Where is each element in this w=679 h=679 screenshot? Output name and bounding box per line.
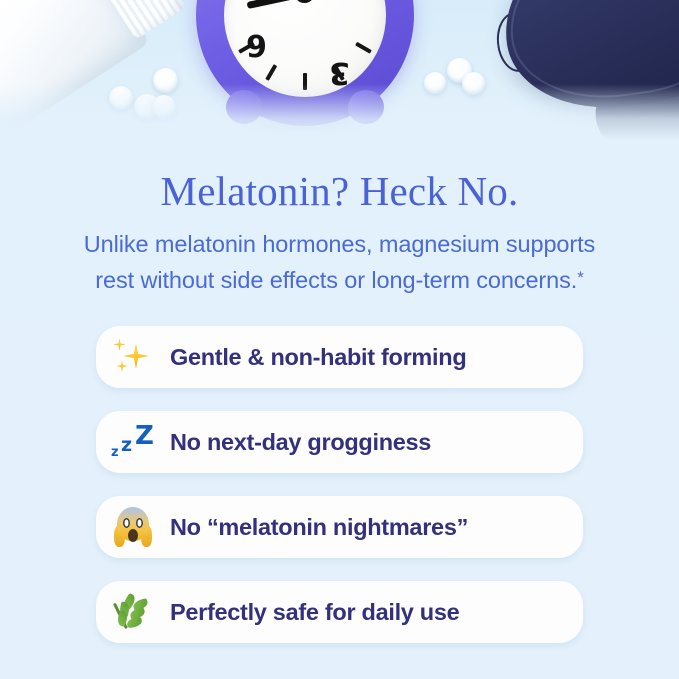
sleeping-zzz-icon: z z Z xyxy=(96,422,170,462)
sparkle-small-top xyxy=(113,338,126,351)
sparkle-large xyxy=(123,343,149,369)
subheading: Unlike melatonin hormones, magnesium sup… xyxy=(28,228,651,297)
scream-mouth xyxy=(128,529,138,542)
feature-card-label: No next-day grogginess xyxy=(170,429,431,456)
herb-leaf-icon xyxy=(96,592,170,632)
feature-card-label: Gentle & non-habit forming xyxy=(170,344,466,371)
promo-page: 6 3 Melatonin? Heck No. Unlike melatonin… xyxy=(0,0,679,679)
sparkles-icon xyxy=(96,336,170,378)
subheading-line-2: rest without side effects or long-term c… xyxy=(95,267,577,293)
hero-photo-banner: 6 3 xyxy=(0,0,679,140)
feature-card-list: Gentle & non-habit forming z z Z No next… xyxy=(96,326,583,643)
subheading-line-1: Unlike melatonin hormones, magnesium sup… xyxy=(84,231,595,257)
screaming-face-icon xyxy=(96,507,170,547)
scream-eye-right xyxy=(136,518,143,528)
feature-card-daily-use[interactable]: Perfectly safe for daily use xyxy=(96,581,583,643)
clock-numeral-6: 6 xyxy=(246,29,267,59)
clock-minute-hand xyxy=(247,0,305,9)
clock-numeral-3: 3 xyxy=(329,57,350,87)
zzz-medium: z xyxy=(121,436,132,455)
bottle-highlight xyxy=(0,0,71,38)
feature-card-label: Perfectly safe for daily use xyxy=(170,599,459,626)
hero-fade-overlay xyxy=(0,84,679,140)
herb-leaf xyxy=(126,617,142,628)
sparkle-small-bottom xyxy=(116,360,128,372)
clock-center-hub xyxy=(294,0,315,3)
footnote-asterisk: * xyxy=(577,268,584,287)
zzz-large: Z xyxy=(135,423,154,449)
feature-card-grogginess[interactable]: z z Z No next-day grogginess xyxy=(96,411,583,473)
scream-eye-left xyxy=(123,518,130,528)
clock-tick xyxy=(265,64,277,81)
feature-card-nightmares[interactable]: No “melatonin nightmares” xyxy=(96,496,583,558)
page-title: Melatonin? Heck No. xyxy=(0,166,679,216)
feature-card-gentle[interactable]: Gentle & non-habit forming xyxy=(96,326,583,388)
clock-tick xyxy=(355,42,372,54)
feature-card-label: No “melatonin nightmares” xyxy=(170,514,468,541)
zzz-small: z xyxy=(111,446,119,459)
